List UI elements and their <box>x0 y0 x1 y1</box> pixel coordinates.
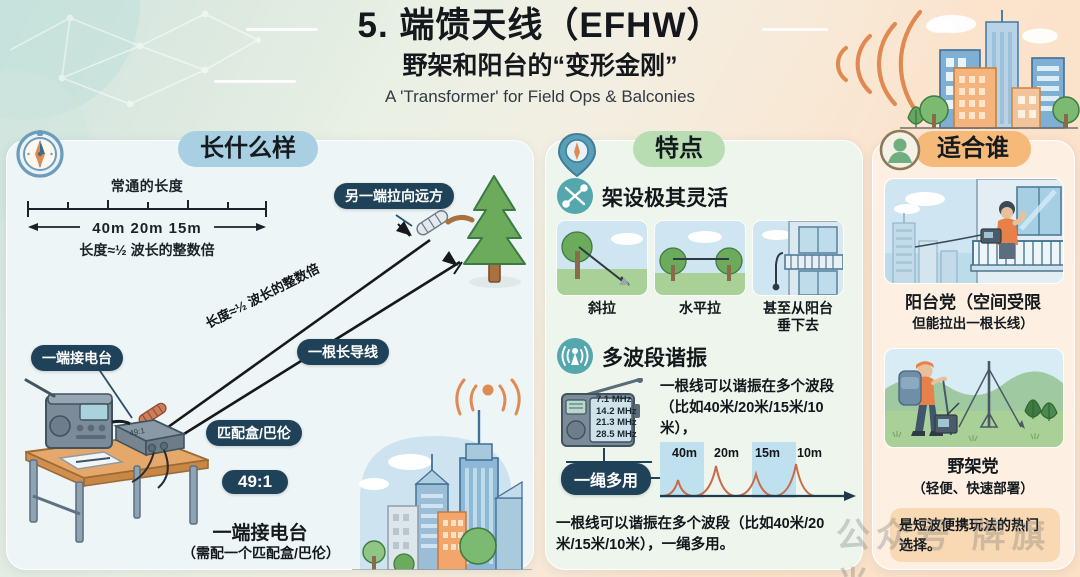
label-ratio: 49:1 <box>222 470 288 494</box>
photo-field-hiker <box>884 348 1064 448</box>
photo-balcony-operator <box>884 178 1064 284</box>
feature2-title: 多波段谐振 <box>602 342 707 372</box>
thumb-balcony-drop-caption: 甚至从阳台 垂下去 <box>748 300 848 334</box>
panel-appearance-badge: 长什么样 <box>178 131 318 167</box>
infographic-canvas: 5. 端馈天线（EFHW） 野架和阳台的“变形金刚” A 'Transforme… <box>0 0 1080 577</box>
page-header: 5. 端馈天线（EFHW） 野架和阳台的“变形金刚” A 'Transforme… <box>0 4 1080 109</box>
tower-signal-icon <box>452 374 524 426</box>
broadcast-antenna-icon <box>556 337 594 375</box>
thumb-horizontal-pull-caption: 水平拉 <box>654 300 746 317</box>
audience-1-title: 阳台党（空间受限 <box>875 292 1071 314</box>
arrows-flexible-icon <box>556 177 594 215</box>
page-subtitle: 野架和阳台的“变形金刚” <box>0 49 1080 83</box>
label-matchbox: 匹配盒/巴伦 <box>206 420 302 446</box>
feature2-footer: 一根线可以谐振在多个波段（比如40米/20米/15米/10米），一绳多用。 <box>556 514 852 556</box>
label-long-wire: 一根长导线 <box>297 339 389 365</box>
length-scale-values: 40m 20m 15m <box>22 220 272 237</box>
chip-multi-use: 一绳多用 <box>561 463 651 495</box>
panel-audience-badge: 适合谁 <box>915 131 1031 167</box>
freq-item-2: 14.2 MHz <box>596 406 637 418</box>
radio-frequency-list: 7.1 MHz 14.2 MHz 21.3 MHz 28.5 MHz <box>596 394 637 440</box>
compass-icon <box>14 128 66 180</box>
band-label-40m: 40m <box>672 446 697 460</box>
feature2-body: 一根线可以谐振在多个波段（比如40米/20米/15米/10米）， <box>660 377 856 440</box>
panel-features-badge: 特点 <box>633 131 725 167</box>
feature1-title: 架设极其灵活 <box>602 182 728 212</box>
page-subtitle-english: A 'Transformer' for Field Ops & Balconie… <box>0 85 1080 109</box>
page-title: 5. 端馈天线（EFHW） <box>0 4 1080 48</box>
audience-1-note: 但能拉出一根长线） <box>875 314 1071 333</box>
freq-item-3: 21.3 MHz <box>596 417 637 429</box>
user-avatar-icon <box>879 129 921 171</box>
freq-item-1: 7.1 MHz <box>596 394 637 406</box>
thumb-balcony-drop <box>752 220 844 296</box>
thumb-slope-pull-caption: 斜拉 <box>556 300 648 317</box>
thumb-horizontal-pull <box>654 220 746 296</box>
length-scale-footnote: 长度≈½ 波长的整数倍 <box>22 240 272 260</box>
band-label-10m: 10m <box>797 446 822 460</box>
audience-2-title: 野架党 <box>875 456 1071 478</box>
left-caption-main: 一端接电台 <box>150 518 370 545</box>
label-radio-end: 一端接电台 <box>31 345 123 371</box>
freq-item-4: 28.5 MHz <box>596 429 637 441</box>
left-caption-sub: （需配一个匹配盒/巴伦） <box>136 543 386 563</box>
audience-2-note: （轻便、快速部署） <box>875 479 1071 498</box>
band-label-15m: 15m <box>755 446 780 460</box>
band-label-20m: 20m <box>714 446 739 460</box>
audience-summary: 是短波便携玩法的热门选择。 <box>890 508 1060 562</box>
thumb-slope-pull <box>556 220 648 296</box>
label-far-end: 另一端拉向远方 <box>334 183 454 209</box>
location-pin-icon <box>553 128 601 180</box>
